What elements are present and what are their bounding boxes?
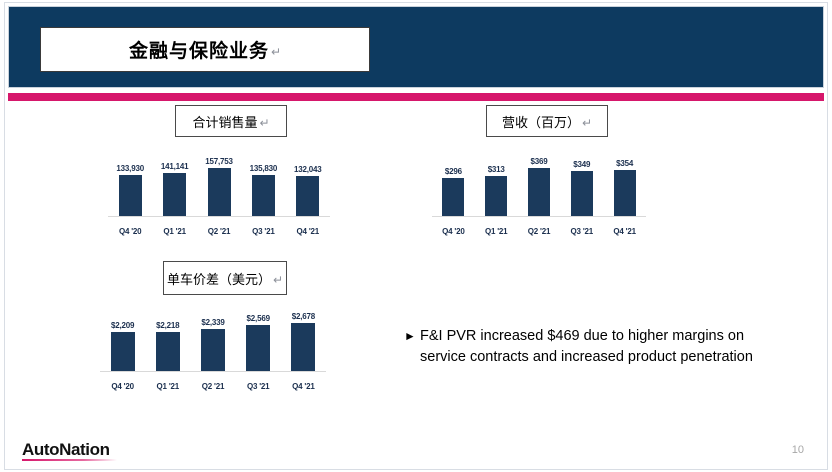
- x-axis-label: Q4 '20: [108, 227, 152, 236]
- bar-value-label: $296: [445, 167, 462, 176]
- chart-caption-label: 营收（百万）: [502, 112, 580, 131]
- x-axis-line: [108, 216, 330, 217]
- bar-group: $296$313$369$349$354: [432, 150, 646, 216]
- bar-rect: [163, 173, 186, 216]
- bar-item: $349: [571, 150, 593, 216]
- x-axis-label: Q2 '21: [190, 382, 235, 391]
- paragraph-mark-icon: ↵: [273, 273, 283, 287]
- bar-item: 135,830: [252, 150, 275, 216]
- x-axis-labels: Q4 '20Q1 '21Q2 '21Q3 '21Q4 '21: [108, 220, 330, 236]
- bar-item: $2,218: [156, 305, 180, 371]
- x-axis-labels: Q4 '20Q1 '21Q2 '21Q3 '21Q4 '21: [100, 375, 326, 391]
- chart-total-sales-volume: 133,930141,141157,753135,830132,043 Q4 '…: [108, 150, 330, 242]
- bullet-list: ► F&I PVR increased $469 due to higher m…: [404, 326, 754, 368]
- x-axis-label: Q4 '21: [286, 227, 330, 236]
- slide-title-box[interactable]: 金融与保险业务 ↵: [40, 27, 370, 72]
- x-axis-label: Q4 '20: [100, 382, 145, 391]
- chart-plot-area: 133,930141,141157,753135,830132,043 Q4 '…: [108, 150, 330, 242]
- bar-rect: [291, 323, 315, 371]
- x-axis-label: Q1 '21: [475, 227, 518, 236]
- x-axis-label: Q2 '21: [197, 227, 241, 236]
- bar-item: $2,678: [291, 305, 315, 371]
- x-axis-label: Q4 '20: [432, 227, 475, 236]
- bar-item: $354: [614, 150, 636, 216]
- bar-item: 133,930: [119, 150, 142, 216]
- x-axis-label: Q3 '21: [236, 382, 281, 391]
- bar-item: $369: [528, 150, 550, 216]
- bar-value-label: 141,141: [161, 162, 189, 171]
- list-item: ► F&I PVR increased $469 due to higher m…: [404, 326, 754, 368]
- bar-value-label: 157,753: [205, 157, 233, 166]
- bar-item: $2,339: [201, 305, 225, 371]
- x-axis-line: [100, 371, 326, 372]
- bar-item: $313: [485, 150, 507, 216]
- bar-rect: [296, 176, 319, 216]
- triangle-right-icon: ►: [404, 326, 420, 347]
- bar-value-label: $2,339: [201, 318, 224, 327]
- bar-value-label: $2,569: [247, 314, 270, 323]
- bar-rect: [614, 170, 636, 216]
- autonation-logo: AutoNation: [22, 440, 110, 460]
- x-axis-label: Q1 '21: [152, 227, 196, 236]
- bar-rect: [119, 175, 142, 216]
- chart-revenue-millions: $296$313$369$349$354 Q4 '20Q1 '21Q2 '21Q…: [432, 150, 646, 242]
- bar-value-label: $313: [488, 165, 505, 174]
- bar-rect: [208, 168, 231, 216]
- x-axis-labels: Q4 '20Q1 '21Q2 '21Q3 '21Q4 '21: [432, 220, 646, 236]
- bar-rect: [528, 168, 550, 216]
- bar-rect: [571, 171, 593, 216]
- chart-plot-area: $2,209$2,218$2,339$2,569$2,678 Q4 '20Q1 …: [100, 305, 326, 397]
- bar-item: 157,753: [208, 150, 231, 216]
- bar-rect: [252, 175, 275, 216]
- bar-group: 133,930141,141157,753135,830132,043: [108, 150, 330, 216]
- bar-item: 132,043: [296, 150, 319, 216]
- paragraph-mark-icon: ↵: [259, 116, 269, 130]
- chart-pvr-usd: $2,209$2,218$2,339$2,569$2,678 Q4 '20Q1 …: [100, 305, 326, 397]
- bar-value-label: $2,678: [292, 312, 315, 321]
- chart-caption-label: 合计销售量: [192, 112, 257, 131]
- bar-value-label: $2,209: [111, 321, 134, 330]
- paragraph-mark-icon: ↵: [271, 45, 281, 59]
- bar-rect: [442, 178, 464, 216]
- slide: 金融与保险业务 ↵ 133,930141,141157,753135,83013…: [0, 0, 832, 472]
- x-axis-label: Q4 '21: [281, 382, 326, 391]
- chart-plot-area: $296$313$369$349$354 Q4 '20Q1 '21Q2 '21Q…: [432, 150, 646, 242]
- bar-rect: [201, 329, 225, 371]
- page-number: 10: [792, 444, 804, 456]
- chart-caption-total-sales-volume[interactable]: 合计销售量↵: [175, 105, 287, 137]
- chart-caption-revenue-millions[interactable]: 营收（百万）↵: [486, 105, 608, 137]
- bar-value-label: $2,218: [156, 321, 179, 330]
- x-axis-label: Q3 '21: [560, 227, 603, 236]
- x-axis-label: Q2 '21: [518, 227, 561, 236]
- bar-item: 141,141: [163, 150, 186, 216]
- page-title: 金融与保险业务: [129, 36, 269, 63]
- bar-value-label: 133,930: [116, 164, 144, 173]
- accent-stripe: [8, 93, 824, 101]
- bar-item: $296: [442, 150, 464, 216]
- bar-value-label: $354: [616, 159, 633, 168]
- bar-value-label: 132,043: [294, 165, 322, 174]
- logo-underline: [22, 459, 117, 461]
- paragraph-mark-icon: ↵: [582, 116, 592, 130]
- bar-value-label: 135,830: [250, 164, 278, 173]
- bar-item: $2,569: [246, 305, 270, 371]
- bar-value-label: $369: [531, 157, 548, 166]
- bar-rect: [111, 332, 135, 371]
- chart-caption-pvr-usd[interactable]: 单车价差（美元）↵: [163, 261, 287, 295]
- bar-rect: [485, 176, 507, 216]
- bar-item: $2,209: [111, 305, 135, 371]
- bar-group: $2,209$2,218$2,339$2,569$2,678: [100, 305, 326, 371]
- x-axis-label: Q3 '21: [241, 227, 285, 236]
- x-axis-line: [432, 216, 646, 217]
- bar-rect: [246, 325, 270, 371]
- bar-rect: [156, 332, 180, 371]
- chart-caption-label: 单车价差（美元）: [167, 269, 271, 288]
- bar-value-label: $349: [573, 160, 590, 169]
- x-axis-label: Q4 '21: [603, 227, 646, 236]
- x-axis-label: Q1 '21: [145, 382, 190, 391]
- bullet-text: F&I PVR increased $469 due to higher mar…: [420, 326, 754, 368]
